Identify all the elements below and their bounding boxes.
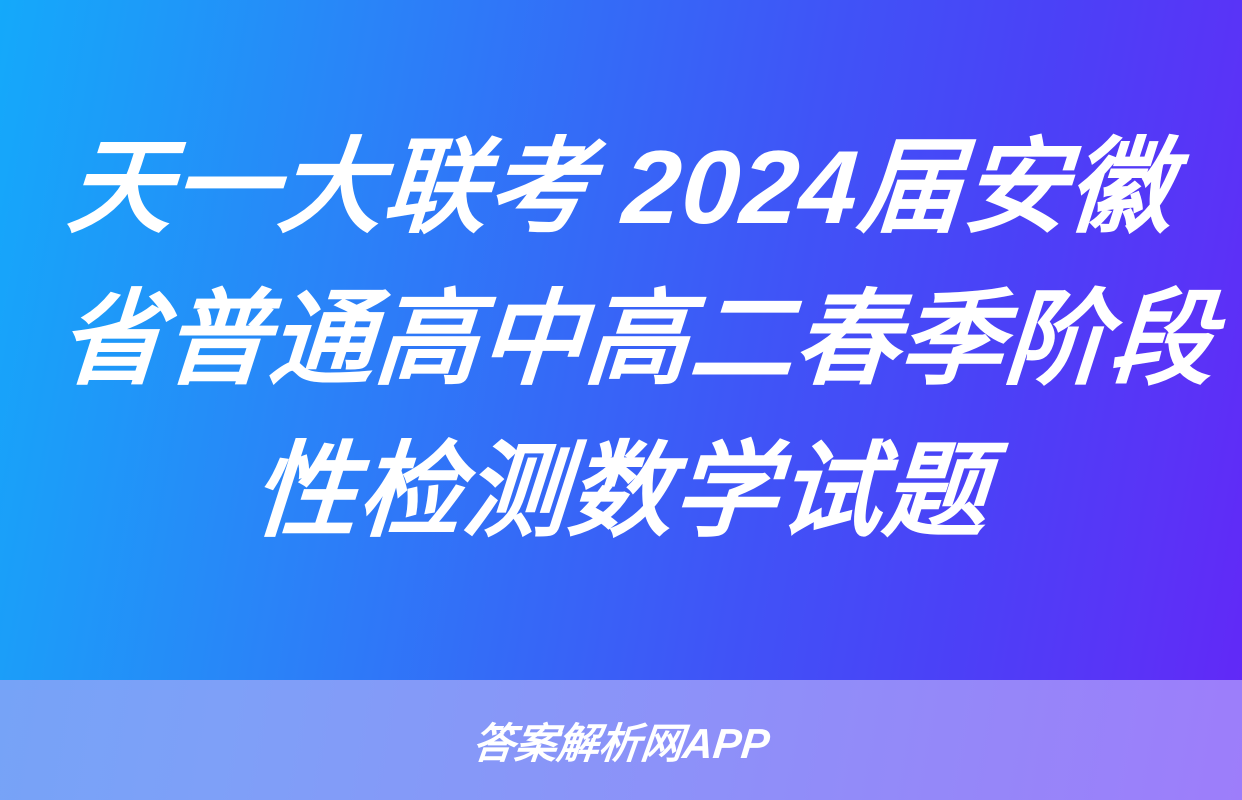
footer-watermark-band: 答案解析网APP <box>0 680 1242 800</box>
poster-title-line-3: 性检测数学试题 <box>55 416 1188 568</box>
poster-title-block: 天一大联考 2024届安徽 省普通高中高二春季阶段 性检测数学试题 <box>60 112 1182 568</box>
poster-canvas: 天一大联考 2024届安徽 省普通高中高二春季阶段 性检测数学试题 答案解析网A… <box>0 0 1242 800</box>
hero-gradient-background: 天一大联考 2024届安徽 省普通高中高二春季阶段 性检测数学试题 <box>0 0 1242 680</box>
poster-title-line-2: 省普通高中高二春季阶段 <box>55 264 1188 416</box>
poster-title-line-1: 天一大联考 2024届安徽 <box>55 112 1188 264</box>
app-watermark-label: 答案解析网APP <box>471 723 772 765</box>
